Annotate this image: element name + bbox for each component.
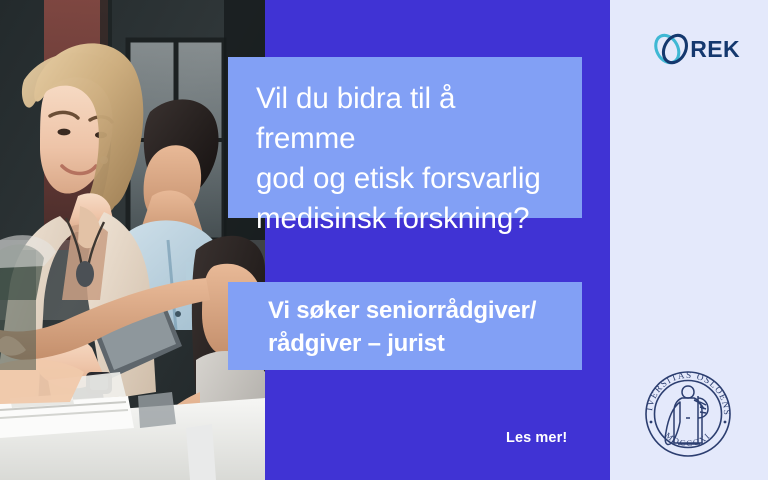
- headline-box: Vil du bidra til å fremme god og etisk f…: [228, 57, 582, 218]
- read-more-link[interactable]: Les mer!: [506, 430, 567, 446]
- rek-interlocking-rings-icon: [650, 27, 692, 71]
- seal-top-text: UNIVERSITAS OSLOENSIS: [636, 362, 732, 416]
- job-posting-box: Vi søker seniorrådgiver/ rådgiver – juri…: [228, 282, 582, 370]
- job-posting-text: Vi søker seniorrådgiver/ rådgiver – juri…: [268, 294, 564, 360]
- rek-wordmark: REK: [690, 36, 740, 63]
- headline-text: Vil du bidra til å fremme god og etisk f…: [256, 79, 556, 239]
- rek-logo[interactable]: REK: [650, 26, 740, 72]
- team-collaboration-photo: [0, 0, 265, 480]
- seal-bottom-text: MDCCCXI: [663, 431, 712, 448]
- recruitment-banner: Vil du bidra til å fremme god og etisk f…: [0, 0, 768, 480]
- uio-seal: UNIVERSITAS OSLOENSIS MDCCCXI: [636, 362, 740, 466]
